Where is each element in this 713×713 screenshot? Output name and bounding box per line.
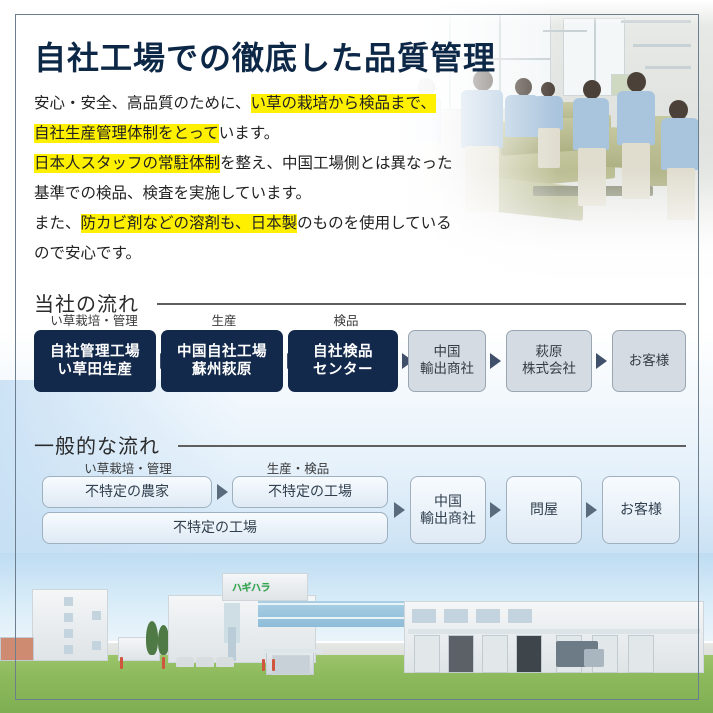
flow-box-line: 萩原 [536, 344, 563, 359]
section-header-general-flow: 一般的な流れ [34, 430, 686, 459]
flow-box-line: お客様 [620, 501, 662, 519]
body-text: 安心・安全、高品質のために、 [34, 95, 251, 112]
flow-arrow [586, 502, 597, 518]
flow-box-gen-0[interactable]: 不特定の農家 [42, 476, 212, 508]
flow-box-own-1[interactable]: 中国自社工場蘇州萩原 [161, 330, 283, 392]
page-title: 自社工場での徹底した品質管理 [34, 33, 496, 79]
flow-box-line: 中国 [434, 493, 462, 509]
flow-box-line: お客様 [629, 353, 670, 370]
flow-box-line: 株式会社 [522, 361, 576, 376]
flow-diagram-general: い草栽培・管理 生産・検品 不特定の農家 不特定の工場 不特定の工場 中国輸出商… [0, 458, 713, 558]
body-text: また、 [34, 215, 81, 232]
flow-caption: い草栽培・管理 [58, 458, 198, 477]
flow-box-own-5[interactable]: お客様 [612, 330, 686, 392]
flow-box-line: い草田生産 [58, 362, 133, 378]
highlighted-text: 防カビ剤などの溶剤も、 [81, 214, 251, 233]
section-rule [157, 303, 686, 305]
body-text: 基準での検品、検査を実施しています。 [34, 185, 311, 202]
factory-sign: ハギハラ [232, 579, 270, 594]
flow-box-own-3[interactable]: 中国輸出商社 [408, 330, 486, 392]
flow-box-line: 不特定の農家 [85, 483, 169, 501]
intro-line: また、防カビ剤などの溶剤も、日本製のものを使用している [34, 209, 504, 239]
flow-box-line: 中国 [434, 344, 461, 359]
promo-panel: 自社工場での徹底した品質管理 安心・安全、高品質のために、い草の栽培から検品まで… [0, 0, 713, 713]
flow-arrow [394, 502, 405, 518]
flow-box-gen-1[interactable]: 不特定の工場 [232, 476, 388, 508]
body-text: います。 [219, 125, 279, 142]
flow-box-own-2[interactable]: 自社検品センター [288, 330, 398, 392]
flow-caption: い草栽培・管理 [34, 310, 154, 329]
section-rule [178, 445, 686, 447]
flow-box-own-4[interactable]: 萩原株式会社 [506, 330, 592, 392]
highlighted-text: 日本製 [251, 214, 298, 233]
flow-box-line: 蘇州萩原 [192, 362, 252, 378]
flow-caption: 生産・検品 [228, 458, 368, 477]
flow-box-own-0[interactable]: 自社管理工場い草田生産 [34, 330, 156, 392]
section-title: 一般的な流れ [34, 430, 160, 459]
intro-line: 日本人スタッフの常駐体制を整え、中国工場側とは異なった [34, 149, 504, 179]
flow-box-gen-2[interactable]: 不特定の工場 [42, 512, 388, 544]
highlighted-text: 日本人スタッフの常駐体制 [34, 154, 220, 173]
highlighted-text: い草の栽培から検品まで、 [251, 94, 436, 113]
body-text: を整え、中国工場側とは異なった [220, 155, 453, 172]
flow-box-line: 不特定の工場 [268, 483, 352, 501]
flow-box-line: 輸出商社 [420, 510, 476, 526]
intro-line: 安心・安全、高品質のために、い草の栽培から検品まで、 [34, 89, 504, 119]
flow-box-line: 中国自社工場 [177, 344, 267, 360]
flow-box-line: センター [313, 362, 373, 378]
flow-box-line: 自社管理工場 [50, 344, 140, 360]
flow-arrow [217, 484, 228, 500]
flow-arrow [596, 353, 607, 369]
flow-box-line: 輸出商社 [420, 361, 474, 376]
intro-paragraph: 安心・安全、高品質のために、い草の栽培から検品まで、自社生産管理体制をとっていま… [34, 89, 504, 269]
flow-caption: 検品 [286, 310, 406, 329]
factory-photo: ハギハラ [0, 553, 713, 713]
flow-diagram-own: い草栽培・管理 生産 検品 自社管理工場い草田生産 中国自社工場蘇州萩原 自社検… [0, 310, 713, 410]
intro-line: ので安心です。 [34, 239, 504, 269]
flow-box-line: 問屋 [530, 501, 558, 519]
flow-box-gen-4[interactable]: 問屋 [506, 476, 582, 544]
body-text: のものを使用している [297, 215, 452, 232]
flow-caption: 生産 [164, 310, 284, 329]
intro-line: 自社生産管理体制をとっています。 [34, 119, 504, 149]
intro-line: 基準での検品、検査を実施しています。 [34, 179, 504, 209]
highlighted-text: 自社生産管理体制をとって [34, 124, 219, 143]
body-text: ので安心です。 [34, 245, 141, 262]
flow-box-gen-5[interactable]: お客様 [602, 476, 680, 544]
flow-box-line: 不特定の工場 [173, 519, 257, 537]
flow-arrow [490, 353, 501, 369]
flow-box-line: 自社検品 [313, 344, 373, 360]
flow-box-gen-3[interactable]: 中国輸出商社 [410, 476, 486, 544]
flow-arrow [490, 502, 501, 518]
